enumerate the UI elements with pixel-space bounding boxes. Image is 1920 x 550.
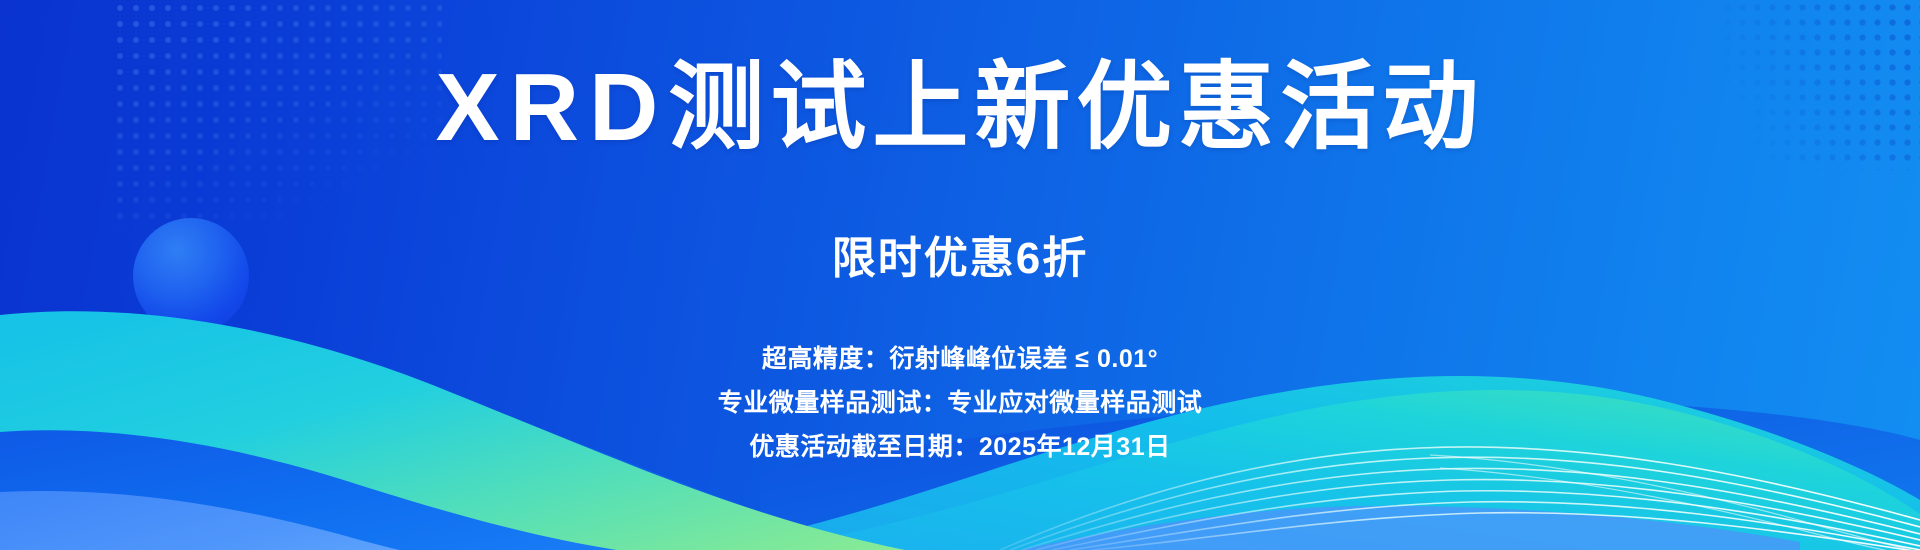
promo-subtitle: 限时优惠6折 <box>0 237 1920 281</box>
feature-item-deadline: 优惠活动截至日期：2025年12月31日 <box>749 425 1170 469</box>
feature-item-precision: 超高精度：衍射峰峰位误差 ≤ 0.01° <box>762 337 1158 381</box>
page-title: XRD测试上新优惠活动 <box>0 60 1920 156</box>
banner-content: XRD测试上新优惠活动 限时优惠6折 超高精度：衍射峰峰位误差 ≤ 0.01° … <box>0 0 1920 550</box>
title-latin-part: XRD <box>436 54 669 161</box>
feature-item-micro-sample: 专业微量样品测试：专业应对微量样品测试 <box>718 381 1203 425</box>
promo-banner: XRD测试上新优惠活动 限时优惠6折 超高精度：衍射峰峰位误差 ≤ 0.01° … <box>0 0 1920 550</box>
title-cjk-part: 测试上新优惠活动 <box>668 54 1484 161</box>
feature-list: 超高精度：衍射峰峰位误差 ≤ 0.01° 专业微量样品测试：专业应对微量样品测试… <box>0 337 1920 469</box>
